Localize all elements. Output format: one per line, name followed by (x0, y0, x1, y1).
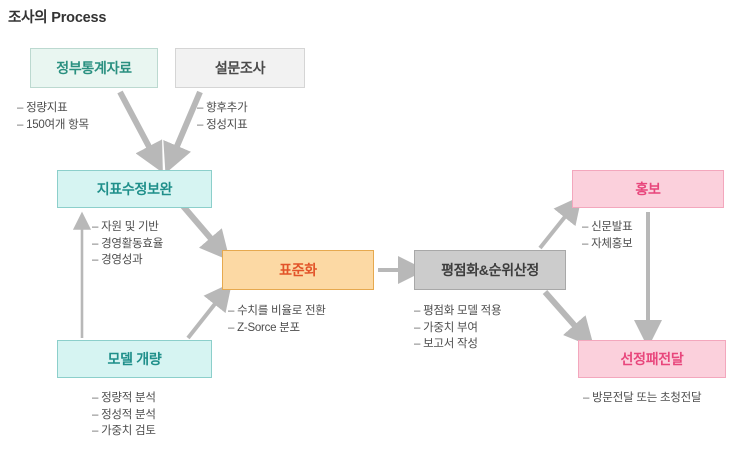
node-scoring-ranking-label: 평점화&순위산정 (441, 260, 539, 280)
bullet-item: Z-Sorce 분포 (228, 320, 326, 337)
bullet-item: 수치를 비율로 전환 (228, 303, 326, 320)
bullet-item: 정성지표 (197, 117, 247, 134)
bullet-item: 경영활동효율 (92, 236, 163, 253)
node-scoring-ranking[interactable]: 평점화&순위산정 (414, 250, 566, 290)
edge-survey-to-indicator (172, 92, 200, 158)
node-model-improvement[interactable]: 모델 개량 (57, 340, 212, 378)
bullet-item: 자체홍보 (582, 236, 632, 253)
bullets-model-improvement: 정량적 분석 정성적 분석 가중치 검토 (92, 390, 156, 440)
bullets-scoring-ranking: 평점화 모델 적용 가중치 부여 보고서 작성 (414, 303, 501, 353)
bullets-survey: 향후추가 정성지표 (197, 100, 247, 133)
node-promotion[interactable]: 홍보 (572, 170, 724, 208)
bullet-item: 방문전달 또는 초청전달 (583, 390, 701, 407)
edge-scoring-to-award (545, 292, 583, 335)
bullets-standardization: 수치를 비율로 전환 Z-Sorce 분포 (228, 303, 326, 336)
bullets-promotion: 신문발표 자체홍보 (582, 219, 632, 252)
diagram-canvas: 조사의 Process 정부통계자료 (0, 0, 753, 452)
bullet-item: 신문발표 (582, 219, 632, 236)
bullet-item: 정량지표 (17, 100, 89, 117)
bullet-item: 가중치 검토 (92, 423, 156, 440)
node-indicator-revision[interactable]: 지표수정보완 (57, 170, 212, 208)
node-survey-label: 설문조사 (215, 58, 265, 78)
node-award-delivery-label: 선정패전달 (621, 349, 684, 369)
bullets-indicator-revision: 자원 및 기반 경영활동효율 경영성과 (92, 219, 163, 269)
edge-scoring-to-promotion (540, 208, 572, 248)
node-gov-stats-label: 정부통계자료 (56, 58, 131, 78)
node-award-delivery[interactable]: 선정패전달 (578, 340, 726, 378)
edge-gov-stats-to-indicator (120, 92, 155, 158)
bullet-item: 정량적 분석 (92, 390, 156, 407)
node-model-improvement-label: 모델 개량 (108, 349, 162, 369)
node-survey[interactable]: 설문조사 (175, 48, 305, 88)
bullet-item: 경영성과 (92, 252, 163, 269)
node-promotion-label: 홍보 (635, 179, 660, 199)
edge-indicator-to-standardization (183, 206, 219, 248)
edge-model-to-standardization (188, 295, 222, 338)
page-title: 조사의 Process (8, 6, 106, 27)
bullet-item: 자원 및 기반 (92, 219, 163, 236)
bullet-item: 정성적 분석 (92, 407, 156, 424)
bullets-gov-stats: 정량지표 150여개 항목 (17, 100, 89, 133)
bullet-item: 보고서 작성 (414, 336, 501, 353)
node-gov-stats[interactable]: 정부통계자료 (30, 48, 158, 88)
node-standardization[interactable]: 표준화 (222, 250, 374, 290)
bullet-item: 150여개 항목 (17, 117, 89, 134)
bullets-award-delivery: 방문전달 또는 초청전달 (583, 390, 701, 407)
bullet-item: 가중치 부여 (414, 320, 501, 337)
bullet-item: 평점화 모델 적용 (414, 303, 501, 320)
node-standardization-label: 표준화 (279, 260, 317, 280)
bullet-item: 향후추가 (197, 100, 247, 117)
node-indicator-revision-label: 지표수정보완 (97, 179, 172, 199)
